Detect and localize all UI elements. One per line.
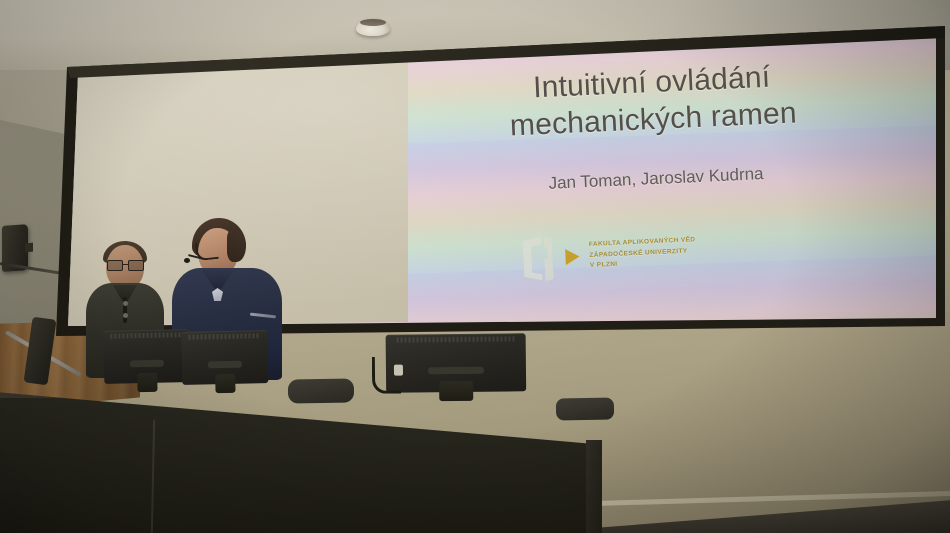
fav-triangle-arrow-icon <box>564 247 581 266</box>
monitor-back-middle <box>181 330 268 404</box>
monitor-stand-neck <box>215 374 236 393</box>
speaker-bracket <box>25 243 33 253</box>
slide-title: Intuitivní ovládání mechanických ramen <box>411 54 894 149</box>
monitor-stand-neck <box>439 381 473 402</box>
monitor-hinge <box>428 366 484 374</box>
monitor-hinge <box>130 360 165 367</box>
chair-backrest-left <box>288 378 354 403</box>
headset-microphone-capsule <box>184 258 190 263</box>
fav-portal-mark-icon <box>520 234 556 283</box>
person-right-hair-side <box>227 230 246 262</box>
faculty-logo-text: FAKULTA APLIKOVANÝCH VĚD ZÁPADOČESKÉ UNI… <box>589 236 697 272</box>
monitor-vent <box>110 332 182 339</box>
presenter-desk-side-panel <box>586 440 602 533</box>
monitor-stand-neck <box>137 373 158 392</box>
monitor-vent <box>397 336 515 342</box>
monitor-back-left <box>103 329 190 403</box>
monitor-vent <box>188 333 260 340</box>
lecture-hall-photo: Intuitivní ovládání mechanických ramen J… <box>0 0 950 533</box>
faculty-logo: FAKULTA APLIKOVANÝCH VĚD ZÁPADOČESKÉ UNI… <box>520 216 793 290</box>
monitor-back-right <box>386 333 527 412</box>
person-left-button <box>123 313 128 318</box>
monitor-hinge <box>208 361 243 368</box>
slide-authors: Jan Toman, Jaroslav Kudrna <box>416 158 896 200</box>
chair-backrest-right <box>556 397 614 420</box>
person-left-button <box>123 301 128 306</box>
eyeglasses-icon <box>106 260 144 269</box>
monitor-cable-plug <box>394 365 403 376</box>
